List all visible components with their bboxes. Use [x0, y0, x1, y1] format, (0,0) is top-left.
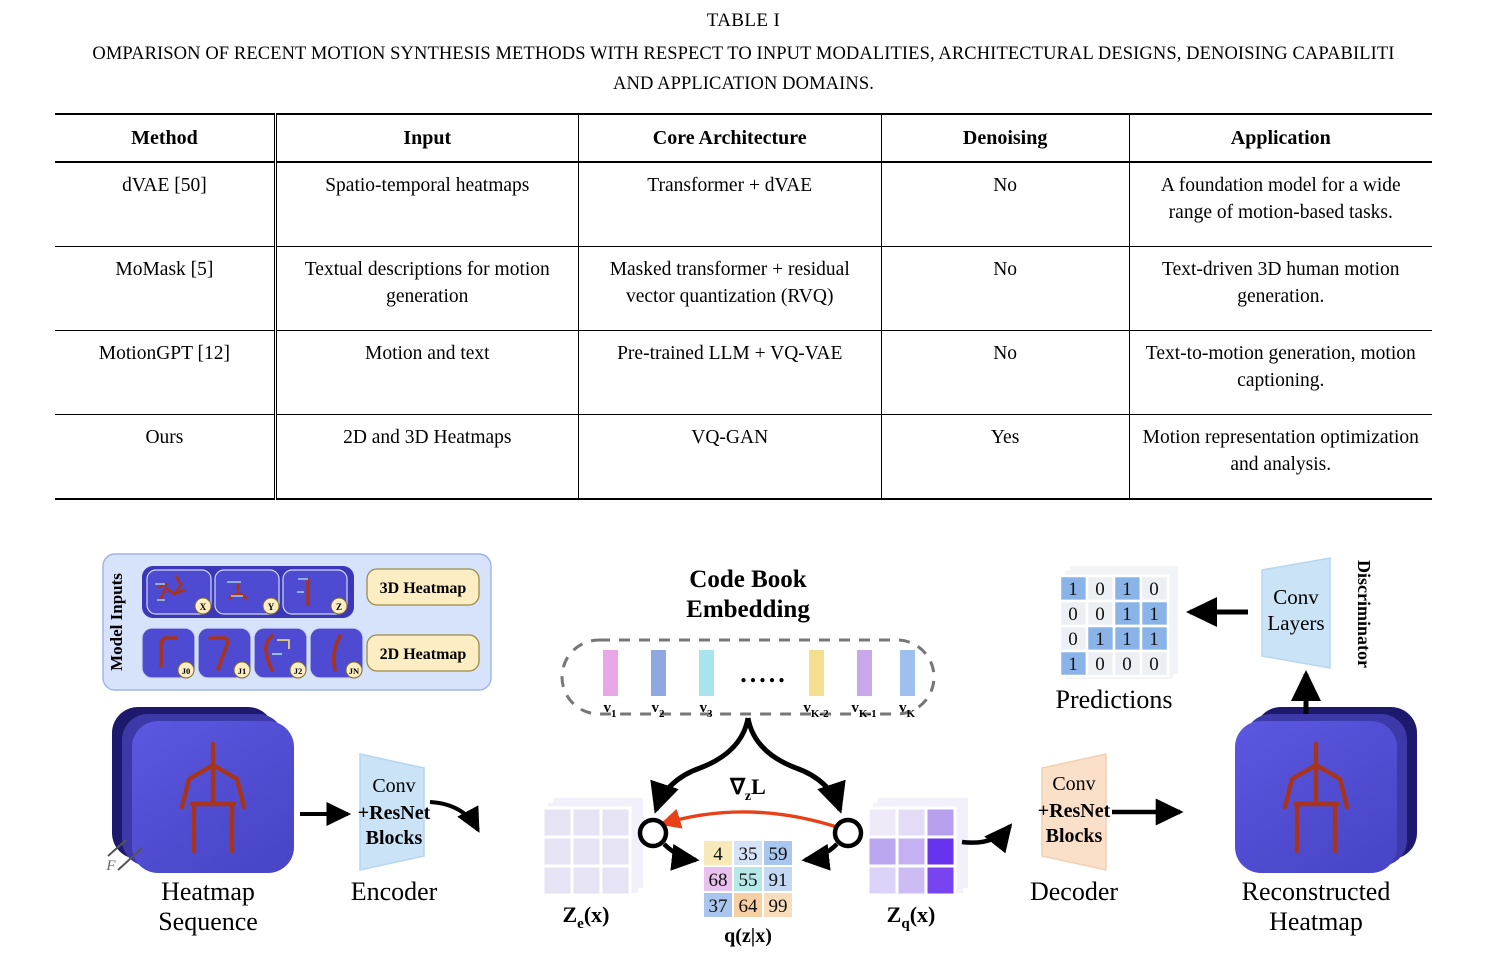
table-row: MotionGPT [12] Motion and text Pre-train… — [55, 331, 1432, 415]
discriminator-side-label: Discriminator — [1354, 560, 1374, 668]
discriminator-block: Conv Layers Discriminator — [1262, 558, 1374, 668]
quant-cell: 91 — [769, 870, 788, 891]
encoder-caption: Encoder — [351, 877, 438, 906]
prediction-cell: 0 — [1149, 579, 1159, 600]
comparison-table: Method Input Core Architecture Denoising… — [55, 113, 1432, 500]
heatmap-sequence-label-1: Heatmap — [161, 877, 255, 906]
axis-tile-label: X — [200, 602, 207, 612]
table-row: MoMask [5] Textual descriptions for moti… — [55, 247, 1432, 331]
table-caption: OMPARISON OF RECENT MOTION SYNTHESIS MET… — [0, 39, 1487, 99]
table-caption-line1: OMPARISON OF RECENT MOTION SYNTHESIS MET… — [0, 39, 1487, 69]
prediction-cell: 0 — [1068, 629, 1078, 650]
axis-tile-label: Z — [336, 602, 342, 612]
joint-tile-label: J2 — [294, 666, 303, 676]
axis-tile-x: X — [147, 570, 211, 614]
encoder-line3: Blocks — [366, 827, 423, 849]
column-header-application: Application — [1129, 114, 1432, 162]
arrow-encoder-to-ze — [430, 802, 478, 830]
table-header-row: Method Input Core Architecture Denoising… — [55, 114, 1432, 162]
codebook-vector-k-1: vK-1 — [851, 650, 876, 720]
quant-cell: 59 — [769, 844, 788, 865]
quant-cell: 37 — [709, 896, 728, 917]
quant-cell: 35 — [739, 844, 758, 865]
discriminator-line2: Layers — [1267, 611, 1324, 635]
quantization-matrix: 4 35 59 68 55 91 37 64 99 q(z|x) — [703, 840, 793, 947]
cell-architecture: Masked transformer + residual vector qua… — [578, 247, 881, 331]
prediction-cell: 0 — [1095, 579, 1105, 600]
heatmap-2d-label: 2D Heatmap — [380, 646, 467, 663]
architecture-diagram: Model Inputs X Y Z — [0, 522, 1487, 980]
model-inputs-side-label: Model Inputs — [107, 573, 126, 671]
cell-denoising: Yes — [881, 415, 1129, 500]
quant-cell: 4 — [713, 844, 723, 865]
heatmap-3d-label: 3D Heatmap — [380, 580, 467, 597]
codebook-vector-k-2: vK-2 — [803, 650, 829, 720]
svg-text:vK: vK — [899, 700, 916, 720]
cell-denoising: No — [881, 331, 1129, 415]
quant-cell: 68 — [709, 870, 728, 891]
codebook-vector-1: v1 — [603, 650, 618, 720]
quantization-caption: q(z|x) — [724, 925, 772, 947]
codebook-title-2: Embedding — [686, 596, 810, 623]
heatmap-3d-badge: 3D Heatmap — [367, 569, 479, 605]
codebook-title-1: Code Book — [689, 566, 806, 593]
svg-text:v3: v3 — [700, 700, 714, 720]
cell-method: dVAE [50] — [55, 162, 275, 247]
cell-input: Textual descriptions for motion generati… — [275, 247, 578, 331]
codebook-ellipsis: ..... — [740, 659, 788, 688]
codebook-vector-2: v2 — [651, 650, 666, 720]
cell-input: Spatio-temporal heatmaps — [275, 162, 578, 247]
cell-method: MotionGPT [12] — [55, 331, 275, 415]
decoder-line2: +ResNet — [1038, 800, 1111, 822]
cell-input: Motion and text — [275, 331, 578, 415]
depth-label-f: F — [105, 858, 116, 874]
node-circle-left — [640, 820, 666, 846]
axis-tile-label: Y — [268, 602, 275, 612]
prediction-cell: 0 — [1095, 604, 1105, 625]
decoder-line1: Conv — [1052, 773, 1095, 795]
column-header-denoising: Denoising — [881, 114, 1129, 162]
cell-architecture: VQ-GAN — [578, 415, 881, 500]
cell-denoising: No — [881, 247, 1129, 331]
axis-tile-y: Y — [215, 570, 279, 614]
prediction-cell: 1 — [1149, 629, 1159, 650]
svg-text:v1: v1 — [604, 700, 617, 720]
cell-application: Text-driven 3D human motion generation. — [1129, 247, 1432, 331]
joint-tile-j0: J0 — [142, 628, 195, 678]
cell-application: Text-to-motion generation, motion captio… — [1129, 331, 1432, 415]
cell-method: MoMask [5] — [55, 247, 275, 331]
joint-tile-label: J0 — [182, 666, 191, 676]
joint-tile-j2: J2 — [254, 628, 307, 678]
comparison-table-wrapper: Method Input Core Architecture Denoising… — [0, 113, 1487, 500]
prediction-cell: 0 — [1149, 654, 1159, 675]
cell-denoising: No — [881, 162, 1129, 247]
prediction-cell: 0 — [1068, 604, 1078, 625]
svg-text:vK-1: vK-1 — [851, 700, 876, 720]
model-inputs-panel: Model Inputs X Y Z — [103, 554, 491, 690]
cell-architecture: Pre-trained LLM + VQ-VAE — [578, 331, 881, 415]
cell-application: A foundation model for a wide range of m… — [1129, 162, 1432, 247]
heatmap-2d-badge: 2D Heatmap — [367, 635, 479, 671]
prediction-cell: 1 — [1149, 604, 1159, 625]
predictions-caption: Predictions — [1056, 685, 1173, 714]
joint-tile-jn: JN — [310, 628, 363, 678]
codebook-group: Code Book Embedding v1 v2 v3 ..... vK-2 … — [562, 566, 934, 720]
prediction-cell: 0 — [1122, 654, 1132, 675]
codebook-vector-k: vK — [899, 650, 916, 720]
quant-cell: 64 — [739, 896, 759, 917]
quant-cell: 99 — [769, 896, 788, 917]
table-number: TABLE I — [0, 10, 1487, 32]
quant-cell: 55 — [739, 870, 758, 891]
discriminator-line1: Conv — [1273, 585, 1319, 609]
ze-latent-grid: Ze(x) — [543, 798, 643, 932]
encoder-block: Conv +ResNet Blocks Encoder — [351, 754, 438, 906]
reconstructed-label-2: Heatmap — [1269, 907, 1363, 936]
encoder-line1: Conv — [372, 775, 415, 797]
svg-text:v2: v2 — [652, 700, 666, 720]
heatmap-sequence-label-2: Sequence — [158, 907, 258, 936]
reconstructed-label-1: Reconstructed — [1242, 877, 1391, 906]
joint-tile-label: J1 — [238, 666, 247, 676]
node-circle-right — [835, 820, 861, 846]
arrow-gradient-red — [662, 812, 840, 828]
prediction-cell: 1 — [1068, 654, 1078, 675]
predictions-matrix: 1 0 1 0 0 0 1 1 0 1 1 1 1 0 0 0 Predicti… — [1056, 566, 1179, 714]
cell-method: Ours — [55, 415, 275, 500]
table-row: dVAE [50] Spatio-temporal heatmaps Trans… — [55, 162, 1432, 247]
arrow-left-to-quant — [664, 844, 696, 860]
heatmap-sequence-stack: F Heatmap Sequence — [105, 707, 294, 936]
table-row: Ours 2D and 3D Heatmaps VQ-GAN Yes Motio… — [55, 415, 1432, 500]
gradient-label: ∇zL — [729, 774, 766, 804]
reconstructed-heatmap-stack: Reconstructed Heatmap — [1235, 707, 1417, 936]
prediction-cell: 1 — [1068, 579, 1078, 600]
decoder-caption: Decoder — [1030, 877, 1118, 906]
prediction-cell: 0 — [1095, 654, 1105, 675]
decoder-line3: Blocks — [1046, 825, 1103, 847]
column-header-input: Input — [275, 114, 578, 162]
arrow-right-to-quant — [805, 844, 837, 860]
joint-tile-label: JN — [349, 666, 360, 676]
zq-label: Zq(x) — [887, 902, 936, 932]
column-header-architecture: Core Architecture — [578, 114, 881, 162]
cell-architecture: Transformer + dVAE — [578, 162, 881, 247]
codebook-vector-3: v3 — [699, 650, 714, 720]
prediction-cell: 1 — [1122, 579, 1132, 600]
encoder-line2: +ResNet — [358, 802, 431, 824]
prediction-cell: 1 — [1122, 629, 1132, 650]
prediction-cell: 1 — [1095, 629, 1105, 650]
table-caption-line2: AND APPLICATION DOMAINS. — [0, 69, 1487, 99]
svg-text:vK-2: vK-2 — [803, 700, 829, 720]
prediction-cell: 1 — [1122, 604, 1132, 625]
column-header-method: Method — [55, 114, 275, 162]
ze-label: Ze(x) — [562, 902, 609, 932]
cell-input: 2D and 3D Heatmaps — [275, 415, 578, 500]
cell-application: Motion representation optimization and a… — [1129, 415, 1432, 500]
arrow-zq-to-decoder — [962, 826, 1010, 843]
joint-tile-j1: J1 — [198, 628, 251, 678]
zq-latent-grid: Zq(x) — [868, 798, 968, 932]
decoder-block: Conv +ResNet Blocks Decoder — [1030, 754, 1118, 906]
axis-tile-z: Z — [283, 570, 347, 614]
